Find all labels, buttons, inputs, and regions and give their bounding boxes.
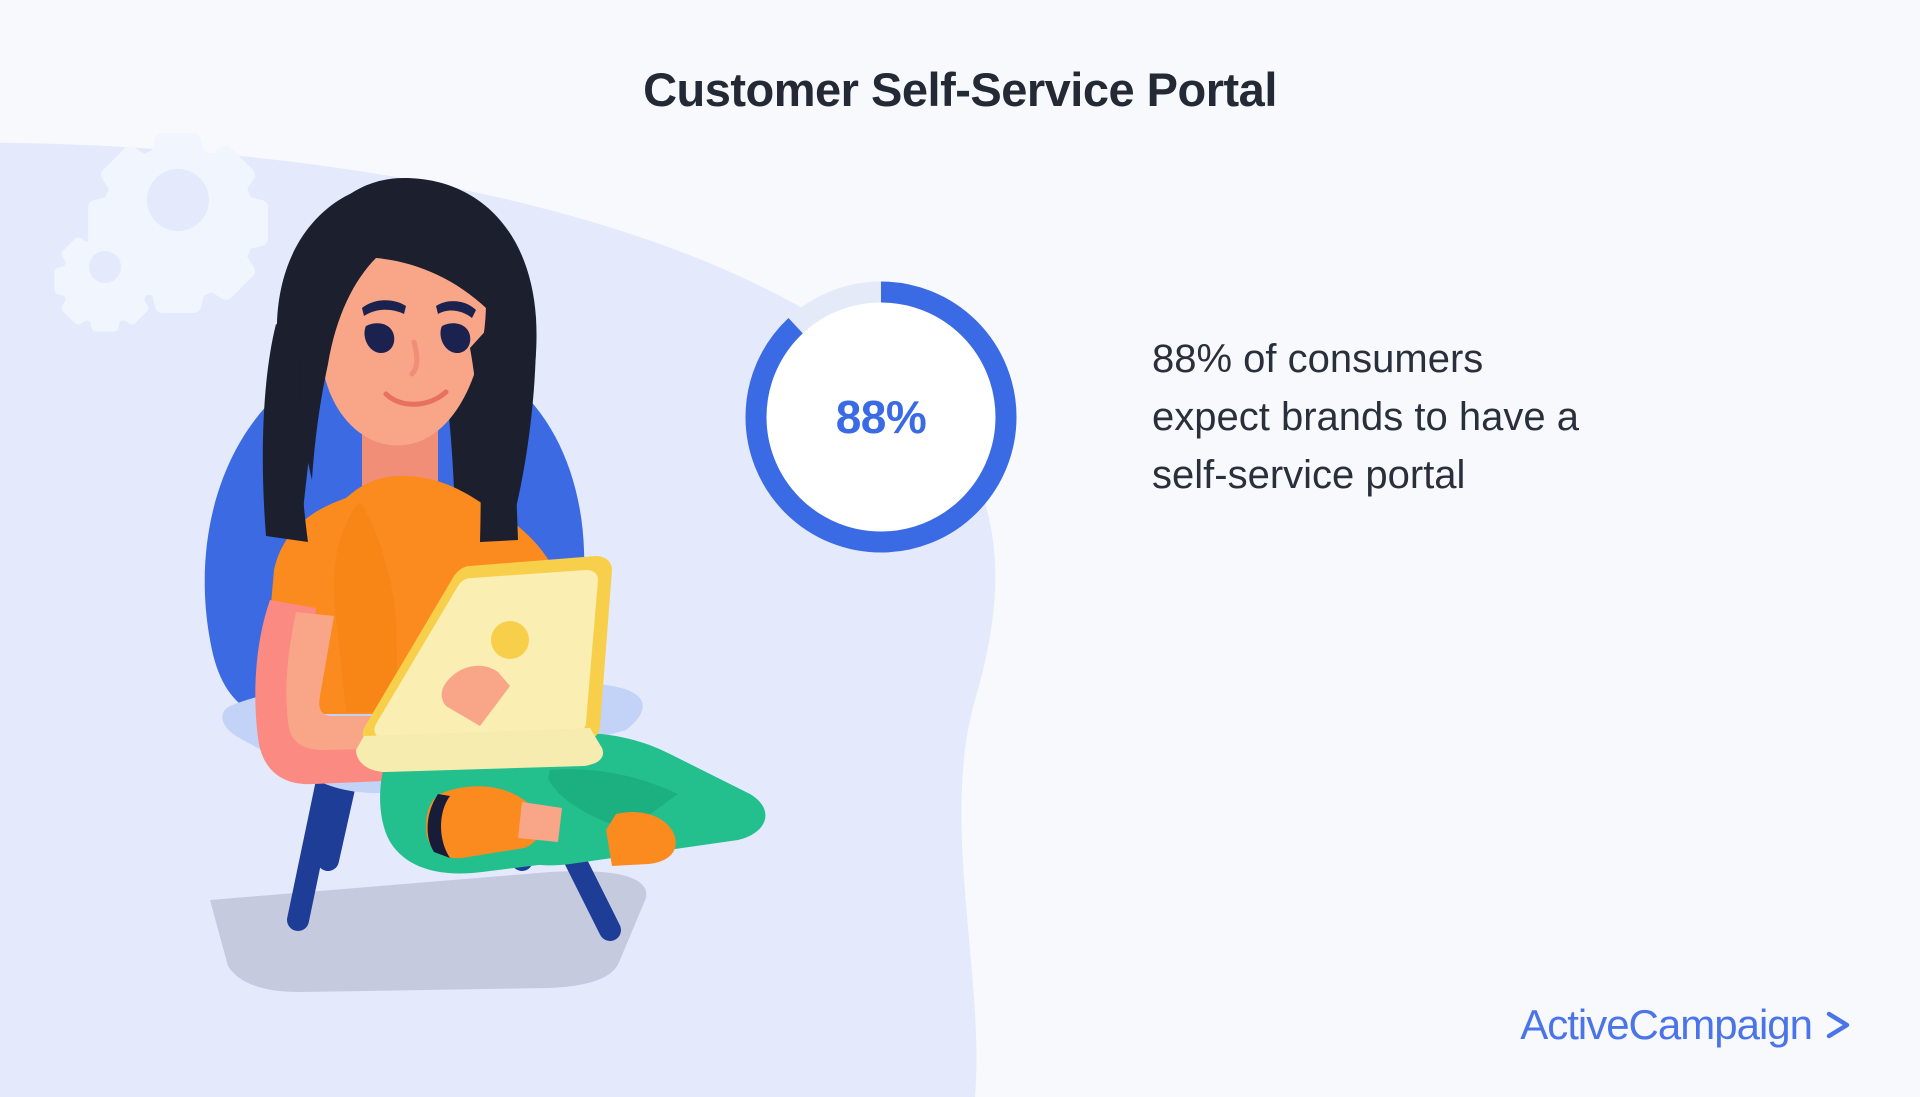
stat-line-2: expect brands to have a (1152, 388, 1772, 446)
stat-line-1: 88% of consumers (1152, 330, 1772, 388)
ankle-skin (518, 802, 562, 842)
stat-description: 88% of consumers expect brands to have a… (1152, 330, 1772, 504)
woman-with-laptop-illustration (150, 130, 770, 1070)
page-title: Customer Self-Service Portal (0, 62, 1920, 117)
gear-icon-small (59, 235, 151, 327)
laptop-logo-icon (491, 621, 529, 659)
infographic-canvas: Customer Self-Service Portal (0, 0, 1920, 1097)
chevron-right-icon (1822, 1008, 1856, 1042)
donut-chart (742, 278, 1020, 556)
stat-line-3: self-service portal (1152, 446, 1772, 504)
brand-logo[interactable]: ActiveCampaign (1520, 1001, 1856, 1049)
brand-logo-text: ActiveCampaign (1520, 1001, 1812, 1049)
